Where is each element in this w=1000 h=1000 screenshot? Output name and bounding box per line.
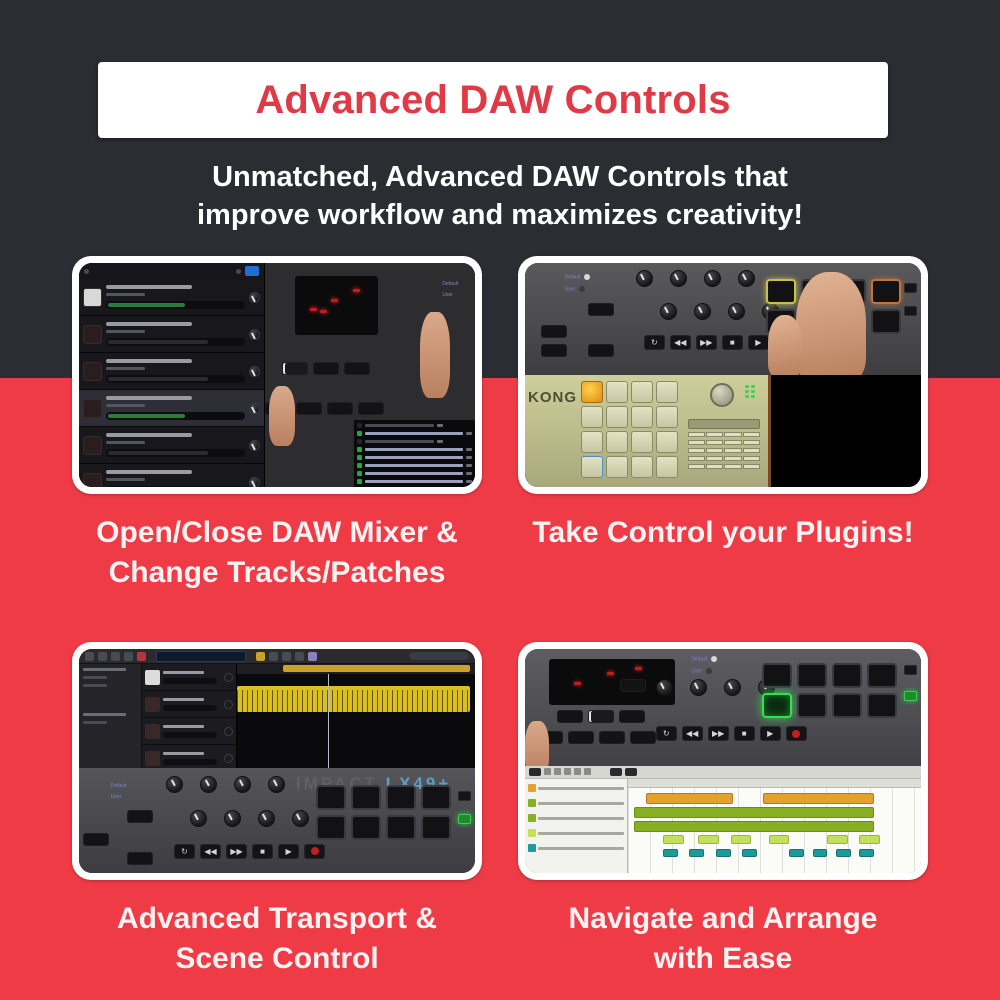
- daw-toolbar[interactable]: [79, 649, 475, 664]
- page-subtitle: Unmatched, Advanced DAW Controls that im…: [0, 158, 1000, 235]
- track-row[interactable]: [79, 427, 264, 464]
- play-button[interactable]: ▶: [278, 844, 299, 859]
- toolbar-dot-icon: [84, 269, 89, 274]
- plugin-pad[interactable]: [656, 381, 678, 403]
- loop-button[interactable]: ↻: [656, 726, 677, 741]
- pad-4[interactable]: [421, 785, 451, 810]
- knob-cutoff[interactable]: [656, 679, 673, 696]
- pad-1[interactable]: [766, 279, 796, 304]
- pad-1[interactable]: [316, 785, 346, 810]
- track-next-button[interactable]: [568, 731, 594, 744]
- knob-resonance[interactable]: [694, 303, 711, 320]
- clip[interactable]: [634, 807, 874, 818]
- track-fader[interactable]: [163, 732, 216, 738]
- zoom-tool-icon[interactable]: [574, 768, 581, 775]
- clip[interactable]: [646, 793, 734, 804]
- track-fader[interactable]: [106, 375, 245, 383]
- plugin-control-panel[interactable]: [688, 419, 761, 472]
- plugin-preset-field[interactable]: [688, 419, 761, 429]
- pad-bank-button[interactable]: [458, 791, 471, 801]
- track-fader[interactable]: [106, 301, 245, 309]
- pad-bank-button[interactable]: [904, 665, 917, 675]
- rewind-button[interactable]: ◀◀: [200, 844, 221, 859]
- track-pan-knob[interactable]: [249, 366, 260, 377]
- patch-prev-button[interactable]: [599, 731, 625, 744]
- knob-resonance[interactable]: [690, 679, 707, 696]
- scissors-tool-icon[interactable]: [564, 768, 571, 775]
- pad-6[interactable]: [351, 815, 381, 840]
- patch-list-item[interactable]: [357, 422, 472, 429]
- patch-button[interactable]: [127, 852, 153, 865]
- play-button[interactable]: ▶: [760, 726, 781, 741]
- pad-7[interactable]: [386, 815, 416, 840]
- track-icon: [145, 670, 160, 685]
- patch-list-item[interactable]: [357, 454, 472, 461]
- plugin-pad[interactable]: [656, 431, 678, 453]
- arrangement-track-headers[interactable]: [525, 779, 628, 874]
- track-pan-knob[interactable]: [249, 292, 260, 303]
- photo-navigate: Default User: [525, 649, 921, 873]
- level-leds-icon: [745, 385, 755, 398]
- track-next-button[interactable]: [296, 402, 322, 415]
- stop-button[interactable]: ■: [722, 335, 743, 350]
- lcd-display: [156, 651, 246, 662]
- patch-list-panel[interactable]: [353, 420, 475, 487]
- finger-pressing-button: [420, 312, 450, 398]
- pad-grid[interactable]: [316, 785, 451, 840]
- pad-4[interactable]: [867, 663, 897, 688]
- clip[interactable]: [634, 821, 874, 832]
- patch-list-item[interactable]: [357, 430, 472, 437]
- pad-2[interactable]: [351, 785, 381, 810]
- feature-card-plugins: Default User: [518, 256, 928, 592]
- stop-button[interactable]: ■: [252, 844, 273, 859]
- track-row[interactable]: [142, 691, 236, 718]
- stop-button[interactable]: ■: [734, 726, 755, 741]
- track-pan-knob[interactable]: [224, 673, 233, 682]
- track-fader[interactable]: [106, 338, 245, 346]
- track-icon: [145, 751, 160, 766]
- play-icon[interactable]: [124, 652, 133, 661]
- page-button[interactable]: [588, 303, 614, 316]
- knob-lfo[interactable]: [292, 810, 309, 827]
- plugin-pad[interactable]: [631, 456, 653, 478]
- knob-osc-level[interactable]: [200, 776, 217, 793]
- photo-frame-navigate: Default User: [518, 642, 928, 880]
- pad-8[interactable]: [421, 815, 451, 840]
- plugin-mute-row[interactable]: [688, 432, 761, 437]
- pad-8[interactable]: [871, 309, 901, 334]
- track-button[interactable]: [541, 344, 567, 357]
- feature-row-1: I Default: [0, 256, 1000, 592]
- piano-button[interactable]: [344, 362, 370, 375]
- pad-grid[interactable]: [762, 663, 897, 718]
- clip[interactable]: [663, 835, 684, 844]
- plugin-pad[interactable]: [606, 456, 628, 478]
- thumb: [768, 315, 802, 377]
- track-icon: [83, 325, 102, 344]
- plugin-pad[interactable]: [656, 456, 678, 478]
- arrangement-timeline[interactable]: [628, 779, 921, 874]
- controller-photo-overlay: Default User: [265, 263, 475, 487]
- piano-button[interactable]: [619, 710, 645, 723]
- daw-arrangement-light: [525, 766, 921, 874]
- plugin-pad[interactable]: [581, 406, 603, 428]
- plugin-pad[interactable]: [631, 381, 653, 403]
- drum-plugin-window: KONG: [525, 375, 921, 487]
- hand-playing-pads: [796, 272, 866, 382]
- rewind-button[interactable]: ◀◀: [670, 335, 691, 350]
- clip[interactable]: [716, 849, 731, 857]
- pad-5-active[interactable]: [762, 693, 792, 718]
- knob-resonance[interactable]: [224, 810, 241, 827]
- led-display: [295, 276, 379, 334]
- settings-dot-icon: [236, 269, 241, 274]
- drum-plugin-panel: KONG: [525, 375, 771, 487]
- mixer-icon[interactable]: [308, 652, 317, 661]
- snap-selector[interactable]: [610, 768, 622, 776]
- title-card: Advanced DAW Controls: [98, 62, 888, 138]
- plugin-keypad[interactable]: [688, 464, 761, 469]
- page-title: Advanced DAW Controls: [255, 78, 730, 123]
- pad-4[interactable]: [871, 279, 901, 304]
- forward-button[interactable]: ▶▶: [696, 335, 717, 350]
- plugin-keypad[interactable]: [688, 456, 761, 461]
- track-icon: [83, 473, 102, 488]
- page-button[interactable]: [620, 679, 646, 692]
- track-icon: [83, 362, 102, 381]
- knob-env-amt[interactable]: [724, 679, 741, 696]
- pad-bank-button[interactable]: [904, 283, 917, 293]
- track-row[interactable]: [79, 279, 264, 316]
- finger-secondary: [269, 386, 295, 446]
- patch-list-item[interactable]: [357, 438, 472, 445]
- scene-button[interactable]: [904, 306, 917, 316]
- plugin-pad[interactable]: [631, 406, 653, 428]
- plugin-pad-grid[interactable]: [581, 381, 678, 478]
- patch-next-button[interactable]: [630, 731, 656, 744]
- pad-6[interactable]: [797, 693, 827, 718]
- feature-grid: I Default: [0, 256, 1000, 978]
- forward-icon[interactable]: [98, 652, 107, 661]
- pad-5[interactable]: [316, 815, 346, 840]
- pointer-tool-icon[interactable]: [529, 768, 541, 776]
- track-row[interactable]: [79, 353, 264, 390]
- cycle-icon[interactable]: [256, 652, 265, 661]
- arrangement-toolbar[interactable]: [525, 766, 921, 779]
- audio-region[interactable]: [237, 686, 470, 712]
- track-icon: [83, 436, 102, 455]
- plugin-pad[interactable]: [606, 381, 628, 403]
- clip[interactable]: [813, 849, 828, 857]
- knob-osc-dect-2[interactable]: [738, 270, 755, 287]
- master-level-knob[interactable]: [710, 383, 734, 407]
- feature-row-2: IMPACT LX49+ Default User: [0, 642, 1000, 978]
- track-pan-knob[interactable]: [224, 754, 233, 763]
- forward-button[interactable]: ▶▶: [226, 844, 247, 859]
- patch-next-button[interactable]: [327, 402, 353, 415]
- photo-transport: IMPACT LX49+ Default User: [79, 649, 475, 873]
- track-fader[interactable]: [163, 705, 216, 711]
- track-row[interactable]: [528, 842, 624, 855]
- mute-tool-icon[interactable]: [584, 768, 591, 775]
- daw-toolbar: [79, 263, 264, 279]
- eraser-tool-icon[interactable]: [554, 768, 561, 775]
- clip[interactable]: [859, 849, 874, 857]
- timeline-ruler[interactable]: [628, 779, 921, 788]
- subtitle-line-1: Unmatched, Advanced DAW Controls that: [0, 158, 1000, 196]
- mixer-button[interactable]: [282, 362, 308, 375]
- rewind-button[interactable]: ◀◀: [682, 726, 703, 741]
- home-icon[interactable]: [295, 652, 304, 661]
- track-row[interactable]: [79, 464, 264, 487]
- track-row[interactable]: [528, 812, 624, 825]
- knob-osc-level[interactable]: [670, 270, 687, 287]
- track-icon: [83, 399, 102, 418]
- stop-icon[interactable]: [111, 652, 120, 661]
- track-fader[interactable]: [106, 449, 245, 457]
- track-icon: [145, 697, 160, 712]
- photo-plugins: Default User: [525, 263, 921, 487]
- pad-1[interactable]: [762, 663, 792, 688]
- feature-caption-plugins: Take Control your Plugins!: [518, 513, 928, 553]
- knob-env-amt[interactable]: [258, 810, 275, 827]
- feature-card-navigate: Default User: [518, 642, 928, 978]
- knob-cutoff[interactable]: [190, 810, 207, 827]
- mixer-button[interactable]: [557, 710, 583, 723]
- plugin-pad[interactable]: [581, 431, 603, 453]
- inst-button[interactable]: [588, 710, 614, 723]
- record-icon[interactable]: [137, 652, 146, 661]
- loop-button[interactable]: ↻: [174, 844, 195, 859]
- playhead[interactable]: [328, 674, 329, 768]
- clip[interactable]: [769, 835, 790, 844]
- pad-7[interactable]: [832, 693, 862, 718]
- mode-label-default: Default: [442, 281, 458, 287]
- patch-button[interactable]: [588, 344, 614, 357]
- track-row[interactable]: [142, 664, 236, 691]
- plugin-empty-area: [771, 375, 921, 487]
- pencil-tool-icon[interactable]: [544, 768, 551, 775]
- patch-list-item[interactable]: [357, 470, 472, 477]
- knob-osc-tune[interactable]: [636, 270, 653, 287]
- loop-button[interactable]: ↻: [644, 335, 665, 350]
- track-fader[interactable]: [106, 486, 245, 487]
- track-pan-knob[interactable]: [249, 477, 260, 488]
- track-row-selected[interactable]: [79, 390, 264, 427]
- plugin-name: KONG: [528, 389, 577, 406]
- plugin-pad-selected[interactable]: [581, 456, 603, 478]
- track-pan-knob[interactable]: [249, 403, 260, 414]
- mode-selector[interactable]: Default User: [442, 281, 458, 303]
- clip[interactable]: [663, 849, 678, 857]
- logic-arrange-window: [79, 649, 475, 768]
- track-button[interactable]: [83, 833, 109, 846]
- rewind-icon[interactable]: [85, 652, 94, 661]
- arrange-timeline[interactable]: [237, 664, 475, 768]
- track-row[interactable]: [528, 782, 624, 795]
- track-row[interactable]: [528, 797, 624, 810]
- record-button[interactable]: [304, 844, 325, 859]
- clip[interactable]: [698, 835, 719, 844]
- track-icon: [145, 724, 160, 739]
- plugin-alt-row[interactable]: [688, 448, 761, 453]
- mode-label-user: User: [442, 292, 458, 298]
- pad-8[interactable]: [867, 693, 897, 718]
- photo-frame-daw-mixer: I Default: [72, 256, 482, 494]
- track-pan-knob[interactable]: [249, 440, 260, 451]
- preset-button[interactable]: [541, 325, 567, 338]
- clip[interactable]: [689, 849, 704, 857]
- search-field[interactable]: [409, 652, 469, 660]
- clip[interactable]: [763, 793, 874, 804]
- midi-controller: Default User: [525, 649, 921, 765]
- feature-card-daw-mixer: I Default: [72, 256, 482, 592]
- scene-button-active[interactable]: [904, 691, 917, 701]
- clip[interactable]: [859, 835, 880, 844]
- cycle-range[interactable]: [283, 665, 471, 672]
- clip[interactable]: [789, 849, 804, 857]
- patch-list-item[interactable]: [357, 478, 472, 485]
- clip[interactable]: [731, 835, 752, 844]
- feature-caption-daw-mixer: Open/Close DAW Mixer & Change Tracks/Pat…: [72, 513, 482, 592]
- clip[interactable]: [827, 835, 848, 844]
- clip[interactable]: [742, 849, 757, 857]
- impact-lx49-controller: IMPACT LX49+ Default User: [79, 768, 475, 873]
- pad-2[interactable]: [797, 663, 827, 688]
- track-fader[interactable]: [163, 759, 216, 765]
- knob-osc-dect-2[interactable]: [268, 776, 285, 793]
- feature-caption-navigate: Navigate and Arrange with Ease: [518, 899, 928, 978]
- track-pan-knob[interactable]: [224, 700, 233, 709]
- photo-daw-mixer: I Default: [79, 263, 475, 487]
- plugin-pad-active[interactable]: [581, 381, 603, 403]
- knob-osc-dect-1[interactable]: [704, 270, 721, 287]
- track-row[interactable]: [79, 316, 264, 353]
- plugin-solo-row[interactable]: [688, 440, 761, 445]
- page-button[interactable]: [127, 810, 153, 823]
- metronome-icon[interactable]: [269, 652, 278, 661]
- pad-3[interactable]: [386, 785, 416, 810]
- track-fader[interactable]: [163, 678, 216, 684]
- bar-selector[interactable]: [625, 768, 637, 776]
- subtitle-line-2: improve workflow and maximizes creativit…: [0, 196, 1000, 234]
- track-fader[interactable]: [106, 412, 245, 420]
- record-button[interactable]: [786, 726, 807, 741]
- daw-track-list: [79, 263, 265, 487]
- midi-controller-top: Default User: [525, 263, 921, 375]
- record-enable-button[interactable]: [245, 266, 259, 276]
- track-pan-knob[interactable]: [249, 329, 260, 340]
- forward-button[interactable]: ▶▶: [708, 726, 729, 741]
- pad-3[interactable]: [832, 663, 862, 688]
- plugin-pad[interactable]: [606, 431, 628, 453]
- knob-osc-dect-1[interactable]: [234, 776, 251, 793]
- clip[interactable]: [836, 849, 851, 857]
- feature-caption-transport: Advanced Transport & Scene Control: [72, 899, 482, 978]
- knob-cutoff[interactable]: [660, 303, 677, 320]
- plugin-pad[interactable]: [606, 406, 628, 428]
- patch-list-item[interactable]: [357, 462, 472, 469]
- list-icon[interactable]: [282, 652, 291, 661]
- knob-osc-tune[interactable]: [166, 776, 183, 793]
- play-button[interactable]: ▶: [748, 335, 769, 350]
- track-icon: [83, 288, 102, 307]
- inspector-panel[interactable]: [79, 664, 142, 768]
- plugin-pad[interactable]: [656, 406, 678, 428]
- mode-label-default: Default: [691, 656, 889, 662]
- track-pan-knob[interactable]: [224, 727, 233, 736]
- plugin-pad[interactable]: [631, 431, 653, 453]
- inst-button[interactable]: [313, 362, 339, 375]
- pan-button[interactable]: [358, 402, 384, 415]
- track-headers[interactable]: [142, 664, 237, 768]
- photo-frame-plugins: Default User: [518, 256, 928, 494]
- patch-list-item[interactable]: [357, 446, 472, 453]
- track-row[interactable]: [528, 827, 624, 840]
- scene-button-active[interactable]: [458, 814, 471, 824]
- photo-frame-transport: IMPACT LX49+ Default User: [72, 642, 482, 880]
- feature-card-transport: IMPACT LX49+ Default User: [72, 642, 482, 978]
- track-row[interactable]: [142, 718, 236, 745]
- knob-env-amt[interactable]: [728, 303, 745, 320]
